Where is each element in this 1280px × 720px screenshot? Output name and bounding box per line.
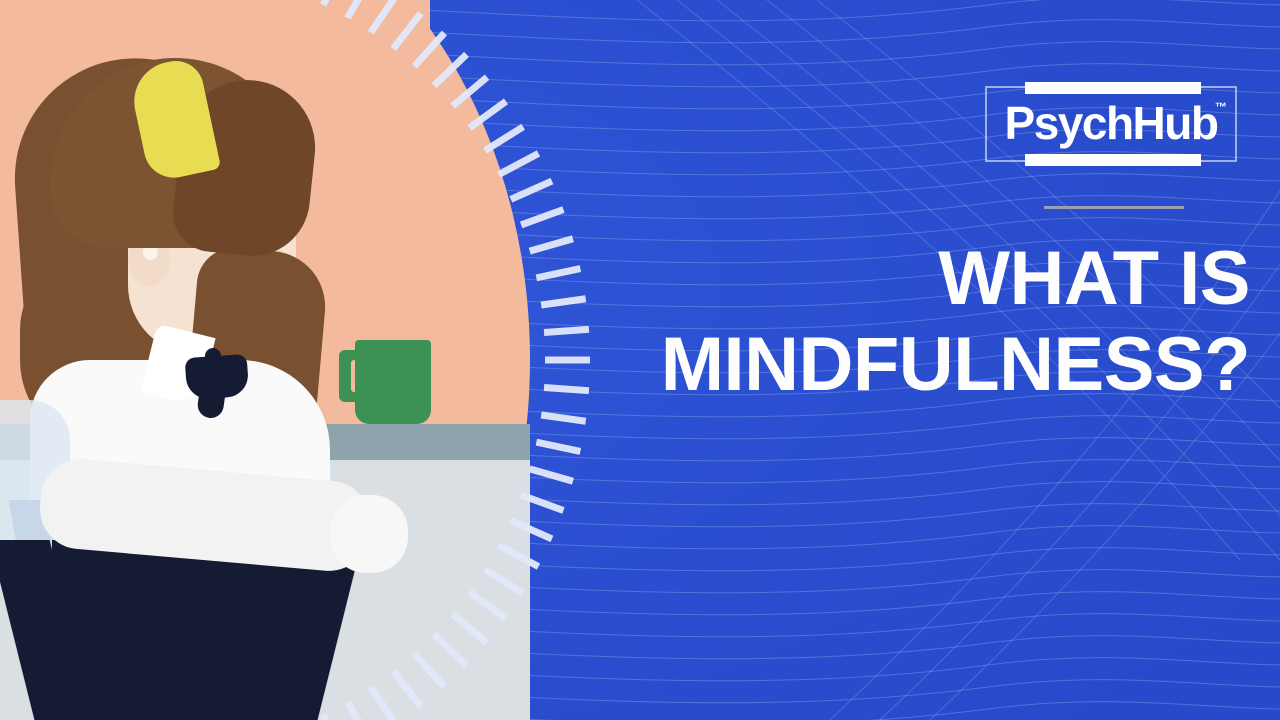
title-line-1: WHAT IS [530,236,1250,322]
thumbnail-canvas: PsychHub ™ WHAT IS MINDFULNESS? [0,0,1280,720]
logo-wordmark: PsychHub [987,100,1235,146]
logo-bar-bottom [1025,154,1201,166]
skirt [52,540,302,720]
page-title: WHAT IS MINDFULNESS? [530,236,1250,408]
title-line-2: MINDFULNESS? [530,322,1250,408]
coffee-mug-icon [355,340,431,424]
neck-bow-knot [205,348,221,364]
psychhub-logo[interactable]: PsychHub ™ [985,86,1237,162]
hand [330,495,408,573]
logo-bar-top [1025,82,1201,94]
trademark-icon: ™ [1215,100,1227,114]
divider-line [1044,206,1184,209]
